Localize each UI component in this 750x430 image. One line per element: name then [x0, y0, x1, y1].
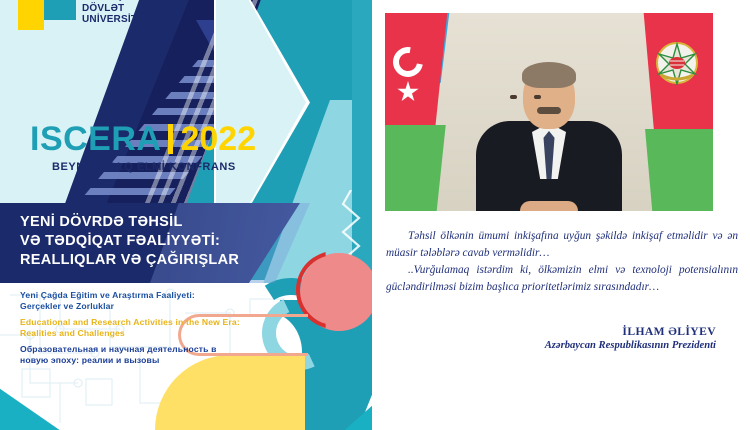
person-figure: [474, 65, 624, 211]
logo-yellow-square-icon: [18, 0, 44, 30]
subtitle-english: Educational and Research Activities in t…: [20, 317, 270, 340]
conference-title-az: YENİ DÖVRDƏ TƏHSİL VƏ TƏDQİQAT FƏALİYYƏT…: [20, 213, 290, 270]
subtitle-turkish: Yeni Çağda Eğitim ve Araştırma Faaliyeti…: [20, 290, 270, 313]
brand-year: 2022: [180, 122, 256, 156]
slide-root: MİNGƏÇEVİR DÖVLƏT UNİVERSİTETİ ISCERA 20…: [0, 0, 750, 430]
flag-right-icon: [649, 13, 713, 211]
attribution-role: Azərbaycan Respublikasının Prezidenti: [545, 340, 716, 351]
attribution-name: İLHAM ƏLİYEV: [545, 325, 716, 338]
subtitle-russian: Образовательная и научная деятельность в…: [20, 344, 270, 367]
brand-divider-bar: [168, 124, 173, 154]
conference-brand: ISCERA 2022 BEYNƏLXALQ ELMİ KONFRANS: [30, 122, 256, 173]
message-panel: Təhsil ölkənin ümumi inkişafına uyğun şə…: [372, 0, 750, 430]
president-photo: [385, 13, 713, 211]
quote-paragraph-2: ..Vurğulamaq istərdim ki, ölkəmizin elmi…: [386, 262, 738, 295]
university-name: MİNGƏÇEVİR DÖVLƏT UNİVERSİTETİ: [82, 0, 153, 26]
hair: [522, 62, 576, 88]
conference-poster: MİNGƏÇEVİR DÖVLƏT UNİVERSİTETİ ISCERA 20…: [0, 0, 372, 430]
hands: [520, 201, 578, 211]
brand-acronym: ISCERA: [30, 122, 161, 156]
university-logo: MİNGƏÇEVİR DÖVLƏT UNİVERSİTETİ: [18, 0, 198, 42]
conference-subtitles: Yeni Çağda Eğitim ve Araştırma Faaliyeti…: [20, 290, 270, 366]
mustache: [537, 107, 561, 114]
brand-subtitle: BEYNƏLXALQ ELMİ KONFRANS: [52, 161, 256, 173]
logo-teal-square-icon: [44, 0, 76, 20]
state-emblem-icon: [655, 41, 699, 85]
flag-left-icon: [385, 13, 443, 211]
quote-attribution: İLHAM ƏLİYEV Azərbaycan Respublikasının …: [545, 325, 716, 351]
quote-paragraph-1: Təhsil ölkənin ümumi inkişafına uyğun şə…: [386, 228, 738, 261]
eye-left: [510, 95, 517, 99]
eye-right: [534, 95, 541, 99]
quote-block: Təhsil ölkənin ümumi inkişafına uyğun şə…: [386, 228, 738, 295]
